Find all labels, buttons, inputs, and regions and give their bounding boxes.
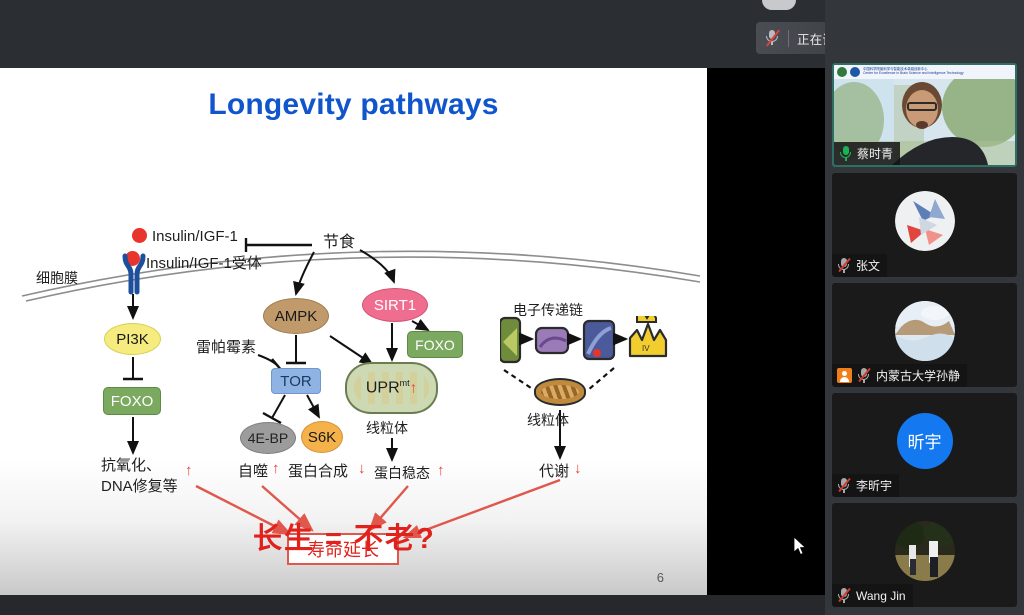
shared-screen-stage: Longevity pathways [0,68,825,595]
participant-nameplate: 张文 [832,254,887,277]
participant-name: 内蒙古大学孙静 [876,367,960,384]
participant-name: 李昕宇 [856,477,892,494]
participant-name: 蔡时青 [857,145,893,162]
banner-line-2: Center for Excellence in Brain Science a… [863,71,964,75]
mic-muted-icon[interactable] [764,29,780,47]
up-arrow-icon: ↑ [437,462,445,479]
meeting-window: 正在讲话: 蔡时青; Longevity pathways [0,0,1024,615]
participant-tile-avatar[interactable]: Wang Jin [832,503,1017,607]
mic-off-icon[interactable] [837,258,851,273]
label-insulin-igf1: Insulin/IGF-1 [152,228,238,245]
node-4ebp[interactable]: 4E-BP [240,422,296,454]
ligand-dot-icon [132,228,147,243]
video-overlay-banner: 中国科学院脑科学与智能技术卓越创新中心 Center for Excellenc… [834,65,1015,79]
avatar [895,191,955,251]
outcome-metabolism: 代谢 [539,460,569,481]
outcome-protein-synthesis: 蛋白合成 [288,460,348,481]
node-pi3k[interactable]: PI3K [104,323,161,355]
receptor-icon [121,252,147,290]
participant-name: 张文 [856,257,880,274]
outcome-autophagy: 自噬 [238,460,268,481]
participant-nameplate: 内蒙古大学孙静 [832,364,967,387]
host-badge-icon [837,368,852,383]
participant-panel[interactable]: 中国科学院脑科学与智能技术卓越创新中心 Center for Excellenc… [825,0,1024,615]
node-sirt1[interactable]: SIRT1 [362,288,428,322]
label-insulin-receptor: Insulin/IGF-1受体 [146,252,262,273]
outcome-proteostasis: 蛋白稳态 [374,463,430,483]
top-bar: 正在讲话: 蔡时青; [0,0,825,68]
avatar-initials: 昕宇 [897,413,953,469]
institute-logo-icon [837,67,847,77]
label-mitochondria-chain: 线粒体 [527,410,569,430]
participant-tile-initials[interactable]: 昕宇 李昕宇 [832,393,1017,497]
bottom-bar [0,595,825,615]
mic-off-icon[interactable] [837,478,851,493]
label-cell-membrane: 细胞膜 [36,268,78,288]
node-foxo-left[interactable]: FOXO [103,387,161,415]
mic-on-icon[interactable] [839,146,852,161]
node-foxo-right[interactable]: FOXO [407,331,463,358]
outcome-dna-repair: DNA修复等 [101,475,178,496]
participant-tile-video[interactable]: 中国科学院脑科学与智能技术卓越创新中心 Center for Excellenc… [832,63,1017,167]
label-mitochondria-upr: 线粒体 [366,418,408,438]
node-tor[interactable]: TOR [271,368,321,394]
avatar [895,301,955,361]
node-upr-superscript: mt [400,378,410,388]
svg-text:IV: IV [642,344,650,353]
electron-transport-chain-icon: IV [500,316,660,372]
up-arrow-icon: ↑ [272,460,280,477]
label-diet: 节食 [323,228,355,252]
up-arrow-icon: ↑ [185,462,193,479]
mic-off-icon[interactable] [857,368,871,383]
outcome-antioxidant: 抗氧化、 [101,454,161,475]
label-rapamycin: 雷帕霉素 [196,336,256,357]
up-arrow-icon: ↑ [410,380,418,397]
participant-tile-avatar[interactable]: 张文 [832,173,1017,277]
participant-nameplate: 蔡时青 [834,142,900,165]
divider [788,30,789,47]
node-s6k[interactable]: S6K [301,421,343,453]
mic-off-icon[interactable] [837,588,851,603]
window-notch [762,0,796,10]
longevity-pathway-diagram: 细胞膜 Insulin/IGF-1 Insulin/IGF-1受体 节食 雷帕霉… [0,68,707,538]
down-arrow-icon: ↓ [574,460,582,477]
presentation-slide[interactable]: Longevity pathways [0,68,707,595]
down-arrow-icon: ↓ [358,460,366,477]
node-upr-mt[interactable]: UPRmt↑ [345,362,438,414]
slide-page-number: 6 [657,570,664,585]
institute-logo-icon [850,67,860,77]
participant-nameplate: Wang Jin [832,584,913,607]
node-upr-label: UPR [366,380,400,397]
slide-closing-question: 长生 = 不老? [253,515,436,557]
node-ampk[interactable]: AMPK [263,298,329,334]
participant-nameplate: 李昕宇 [832,474,899,497]
participant-name: Wang Jin [856,589,906,603]
mouse-cursor [793,536,807,556]
participant-tile-avatar[interactable]: 内蒙古大学孙静 [832,283,1017,387]
avatar [895,521,955,581]
mitochondrion-icon [534,378,586,406]
